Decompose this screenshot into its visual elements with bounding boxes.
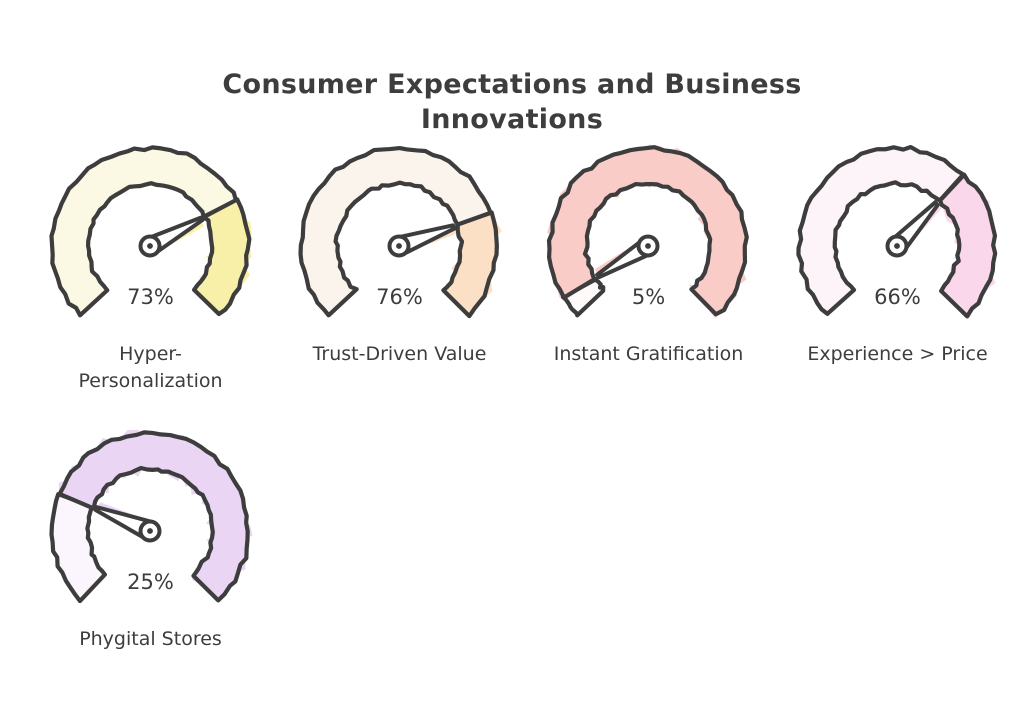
gauge-hub-center [147,243,153,249]
gauge-cell: 76%Trust-Driven Value [275,128,524,413]
gauge-category-label: Phygital Stores [26,626,275,653]
gauge-dial [26,128,275,328]
gauge-cell: 73%Hyper- Personalization [26,128,275,413]
gauge-value-segment [194,199,249,314]
gauge-dial [524,128,773,328]
gauge-grid: 73%Hyper- Personalization76%Trust-Driven… [26,128,1022,698]
gauge-dial [26,413,275,613]
gauge-cell: 25%Phygital Stores [26,413,275,698]
gauge-category-label: Experience > Price [773,341,1022,368]
gauge-hub-center [894,243,900,249]
gauge-category-label: Trust-Driven Value [275,341,524,368]
gauge-dial [773,128,1022,328]
gauge-value-segment [549,147,747,314]
gauge-cell: 5%Instant Gratification [524,128,773,413]
gauge-category-label: Hyper- Personalization [26,341,275,395]
gauge-hub-center [147,528,153,534]
gauge-value-segment [940,175,995,317]
gauge-dial [275,128,524,328]
gauge-hub-center [645,243,651,249]
chart-title: Consumer Expectations and Business Innov… [0,68,1024,137]
gauge-track-segment [798,147,963,314]
gauge-hub-center [396,243,402,249]
gauge-category-label: Instant Gratification [524,341,773,368]
gauge-chart-figure: Consumer Expectations and Business Innov… [0,0,1024,706]
gauge-cell: 66%Experience > Price [773,128,1022,413]
